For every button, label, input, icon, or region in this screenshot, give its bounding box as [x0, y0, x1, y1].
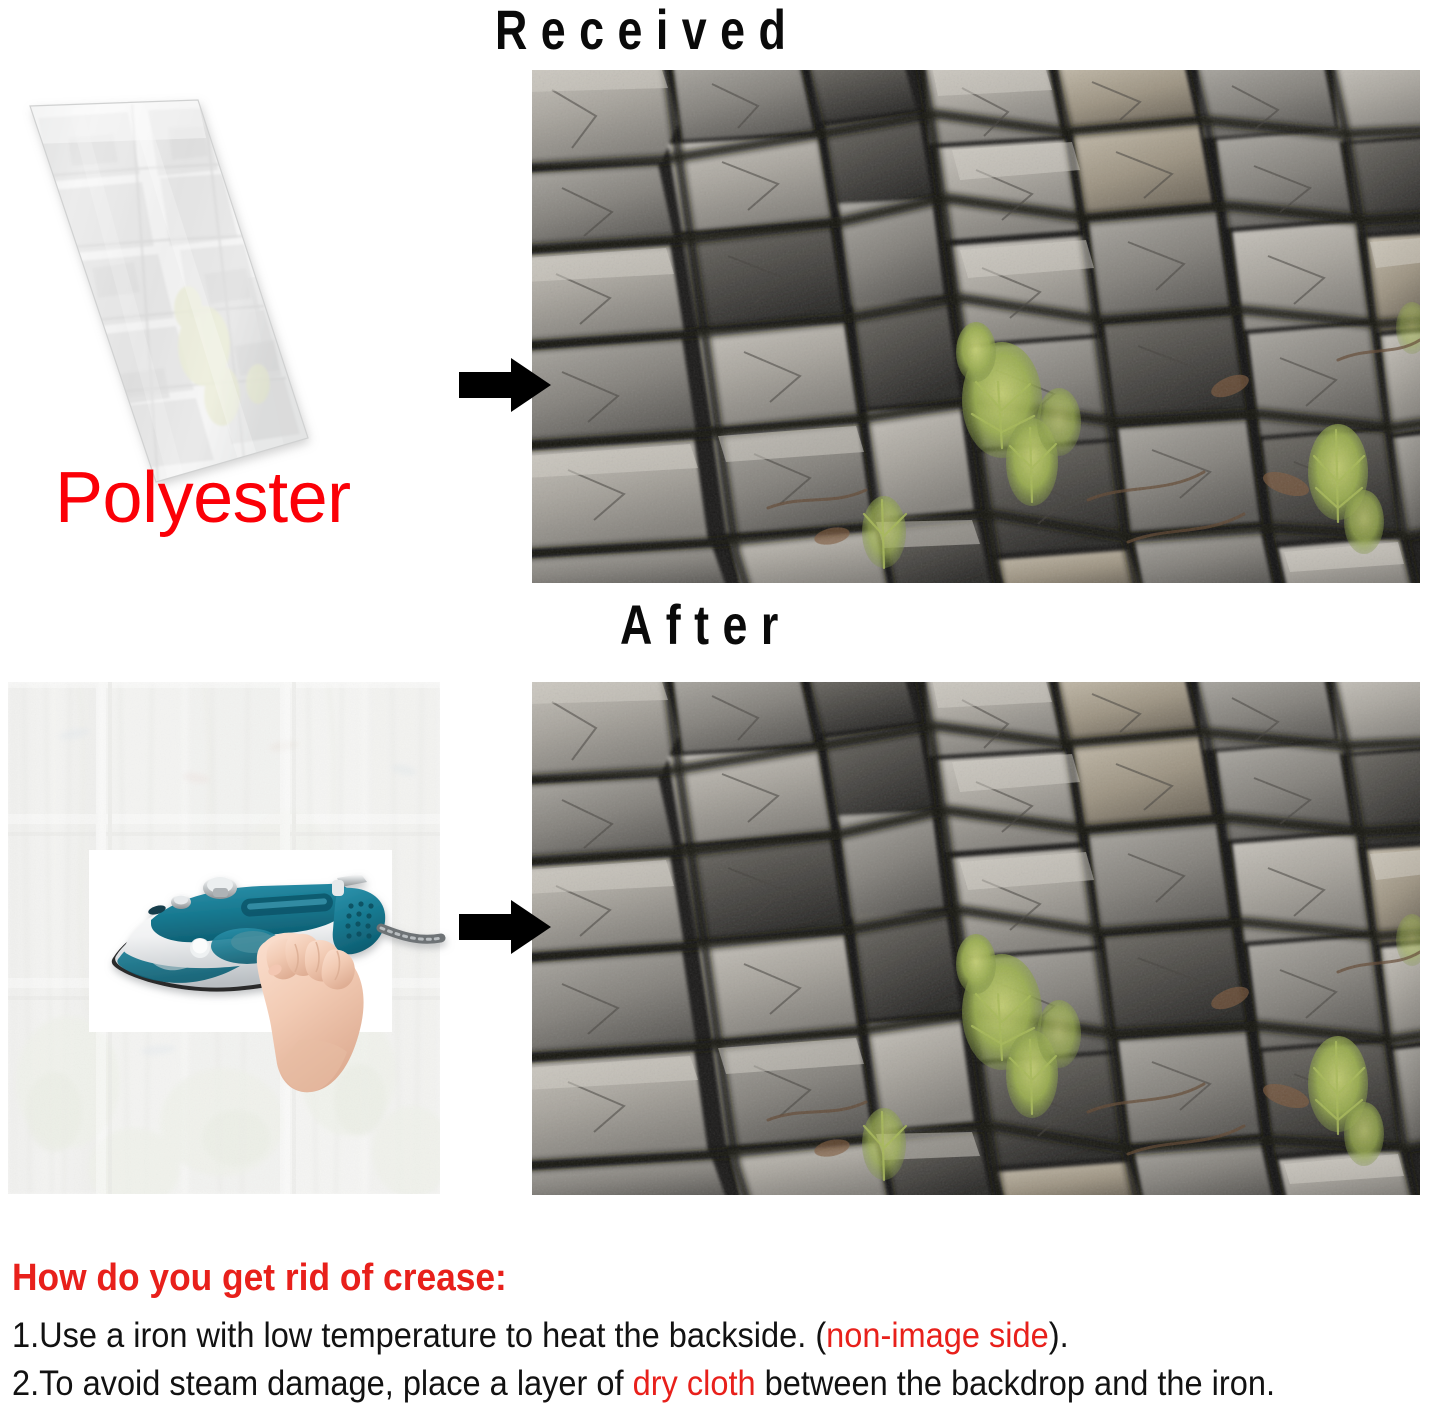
- instruction-line-1-prefix: 1.Use a iron with low temperature to hea…: [12, 1316, 826, 1355]
- instruction-line-1: 1.Use a iron with low temperature to hea…: [12, 1314, 1333, 1359]
- instruction-line-2-suffix: between the backdrop and the iron.: [756, 1364, 1275, 1403]
- folded-fabric-swatch: [8, 78, 420, 490]
- received-backdrop-photo: [532, 70, 1420, 583]
- instruction-line-1-suffix: ).: [1049, 1316, 1069, 1355]
- section-heading-after: After: [620, 597, 792, 653]
- crease-instructions-title: How do you get rid of crease:: [12, 1258, 1333, 1300]
- polyester-material-label: Polyester: [55, 462, 351, 534]
- iron-instruction-photo: [89, 850, 392, 1032]
- crease-instructions-block: How do you get rid of crease: 1.Use a ir…: [12, 1258, 1432, 1409]
- right-arrow-icon-after: [459, 898, 551, 956]
- instruction-line-1-highlight: non-image side: [826, 1316, 1049, 1355]
- right-arrow-icon: [459, 356, 551, 414]
- infographic-canvas: Received: [0, 0, 1436, 1401]
- instruction-line-2: 2.To avoid steam damage, place a layer o…: [12, 1362, 1333, 1407]
- section-heading-received: Received: [495, 2, 799, 58]
- instruction-line-2-prefix: 2.To avoid steam damage, place a layer o…: [12, 1364, 633, 1403]
- instruction-line-2-highlight: dry cloth: [633, 1364, 756, 1403]
- after-backdrop-photo: [532, 682, 1420, 1195]
